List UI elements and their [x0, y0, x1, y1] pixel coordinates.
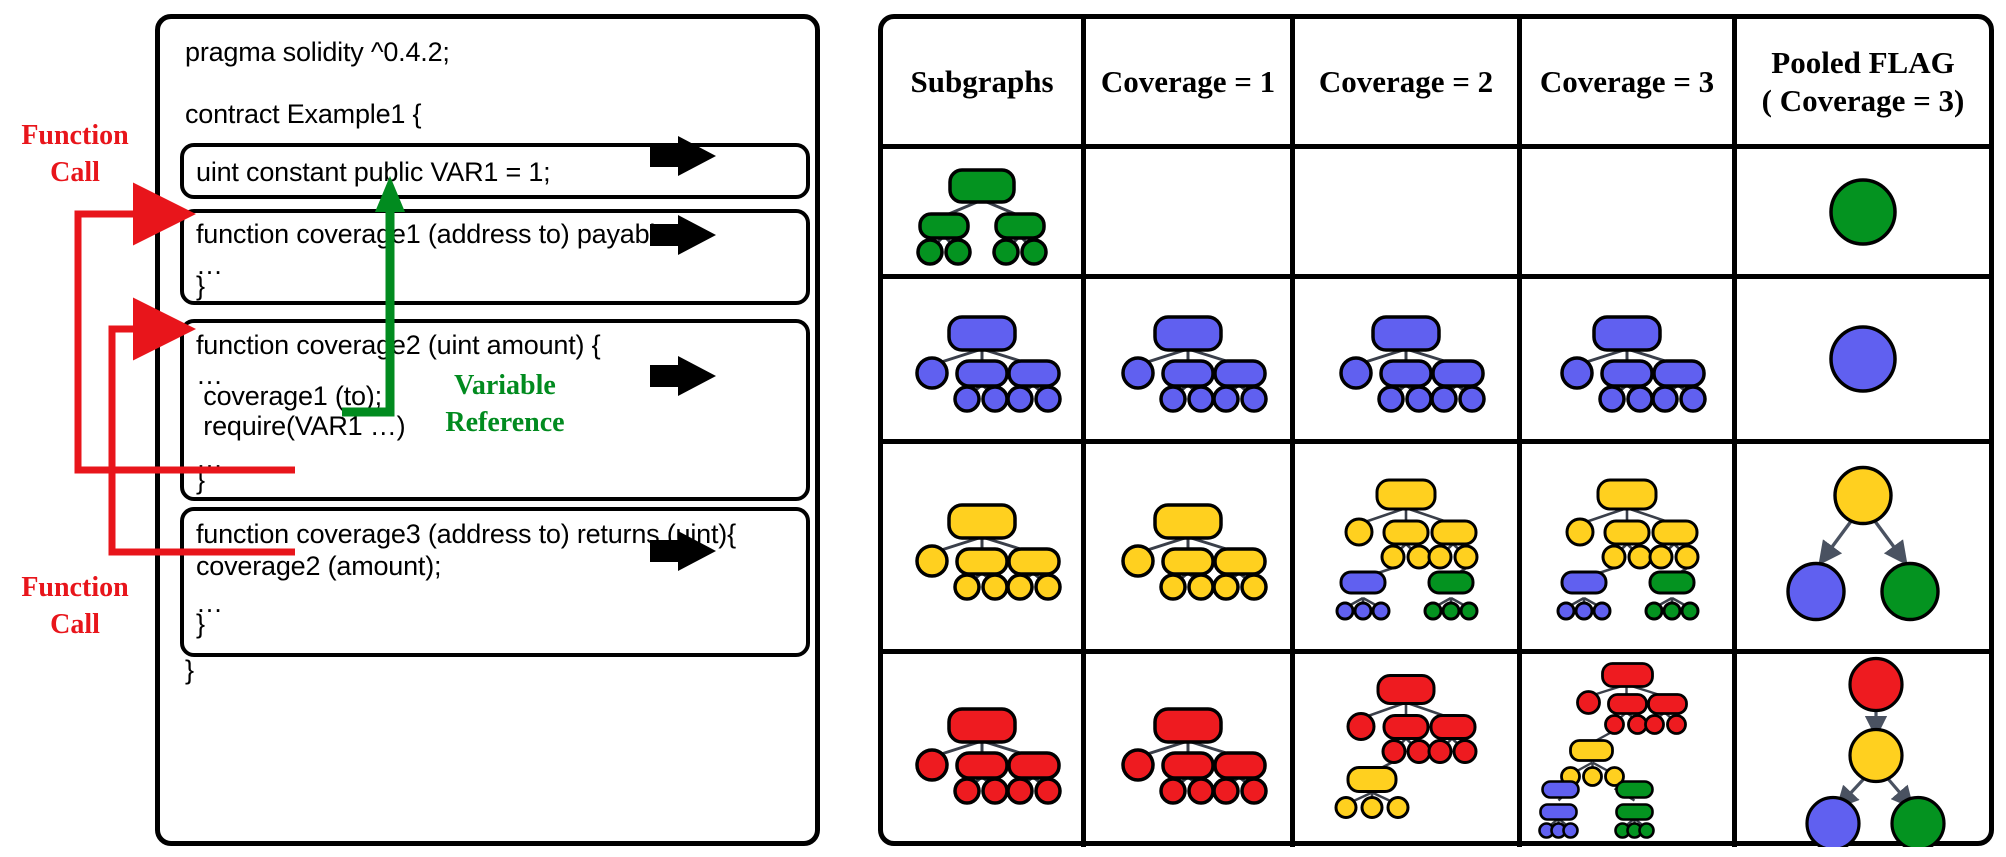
cell-green-subgraph — [883, 149, 1086, 279]
tree-yellow-subgraph — [887, 495, 1077, 599]
cell-red-coverage-3 — [1522, 654, 1737, 847]
cell-green-coverage-1 — [1086, 149, 1295, 279]
table-header-coverage-3: Coverage = 3 — [1522, 19, 1737, 149]
code-line-var-decl: uint constant public VAR1 = 1; — [196, 157, 550, 188]
code-line-coverage1-sig: function coverage1 (address to) payable … — [196, 219, 686, 250]
code-line-coverage3-close: } — [196, 609, 205, 640]
coverage-table-grid: Subgraphs Coverage = 1 Coverage = 2 Cove… — [883, 19, 1989, 841]
pooled-circle-blue — [1823, 319, 1903, 399]
code-line-coverage1-close: } — [196, 271, 205, 302]
table-header-subgraphs: Subgraphs — [883, 19, 1086, 149]
tree-blue-coverage-1 — [1093, 307, 1283, 411]
tree-red-subgraph — [887, 699, 1077, 803]
tree-blue-subgraph — [887, 307, 1077, 411]
cell-yellow-coverage-1 — [1086, 444, 1295, 654]
cell-blue-coverage-1 — [1086, 279, 1295, 444]
tree-green-small — [892, 160, 1072, 264]
tree-blue-coverage-2 — [1311, 307, 1501, 411]
table-header-coverage-1: Coverage = 1 — [1086, 19, 1295, 149]
code-line-coverage2-require: require(VAR1 …) — [196, 411, 405, 442]
cell-blue-coverage-3 — [1522, 279, 1737, 444]
code-line-coverage2-call: coverage1 (to); — [196, 381, 382, 412]
code-line-pragma: pragma solidity ^0.4.2; — [185, 37, 450, 68]
code-line-contract-close: } — [185, 655, 194, 686]
table-header-coverage-2: Coverage = 2 — [1295, 19, 1522, 149]
tree-red-yellow-blue-green-coverage-3 — [1525, 658, 1730, 843]
cell-green-coverage-3 — [1522, 149, 1737, 279]
cell-blue-pooled — [1737, 279, 1989, 444]
tree-red-yellow-coverage-2 — [1306, 668, 1506, 833]
code-line-contract: contract Example1 { — [185, 99, 421, 130]
tree-yellow-blue-green-coverage-3 — [1522, 472, 1732, 622]
code-line-coverage2-sig: function coverage2 (uint amount) { — [196, 330, 600, 361]
annotation-function-call-bottom: Function Call — [0, 570, 150, 644]
cell-red-pooled — [1737, 654, 1989, 847]
tree-red-coverage-1 — [1093, 699, 1283, 803]
cell-green-pooled — [1737, 149, 1989, 279]
cell-green-coverage-2 — [1295, 149, 1522, 279]
coverage-table-panel: Subgraphs Coverage = 1 Coverage = 2 Cove… — [878, 14, 1994, 846]
cell-yellow-coverage-2 — [1295, 444, 1522, 654]
tree-yellow-blue-green-coverage-2 — [1301, 472, 1511, 622]
annotation-variable-reference: Variable Reference — [385, 368, 625, 442]
pooled-circle-green — [1823, 172, 1903, 252]
cell-yellow-subgraph — [883, 444, 1086, 654]
code-block-var-decl[interactable]: uint constant public VAR1 = 1; — [180, 143, 810, 199]
cell-yellow-coverage-3 — [1522, 444, 1737, 654]
cell-red-subgraph — [883, 654, 1086, 847]
cell-red-coverage-2 — [1295, 654, 1522, 847]
table-header-pooled-flag: Pooled FLAG ( Coverage = 3) — [1737, 19, 1989, 149]
code-line-coverage2-close: } — [196, 465, 205, 496]
cell-blue-coverage-2 — [1295, 279, 1522, 444]
code-block-coverage1[interactable]: function coverage1 (address to) payable … — [180, 209, 810, 305]
cell-yellow-pooled — [1737, 444, 1989, 654]
pooled-flag-yellow-graph — [1768, 464, 1958, 629]
cell-red-coverage-1 — [1086, 654, 1295, 847]
code-block-coverage3[interactable]: function coverage3 (address to) returns … — [180, 507, 810, 657]
code-line-coverage3-sig: function coverage3 (address to) returns … — [196, 519, 736, 550]
annotation-function-call-top: Function Call — [0, 118, 150, 192]
cell-blue-subgraph — [883, 279, 1086, 444]
tree-yellow-coverage-1 — [1093, 495, 1283, 599]
tree-blue-coverage-3 — [1532, 307, 1722, 411]
code-line-coverage3-call: coverage2 (amount); — [196, 551, 441, 582]
pooled-flag-red-graph — [1778, 658, 1948, 843]
